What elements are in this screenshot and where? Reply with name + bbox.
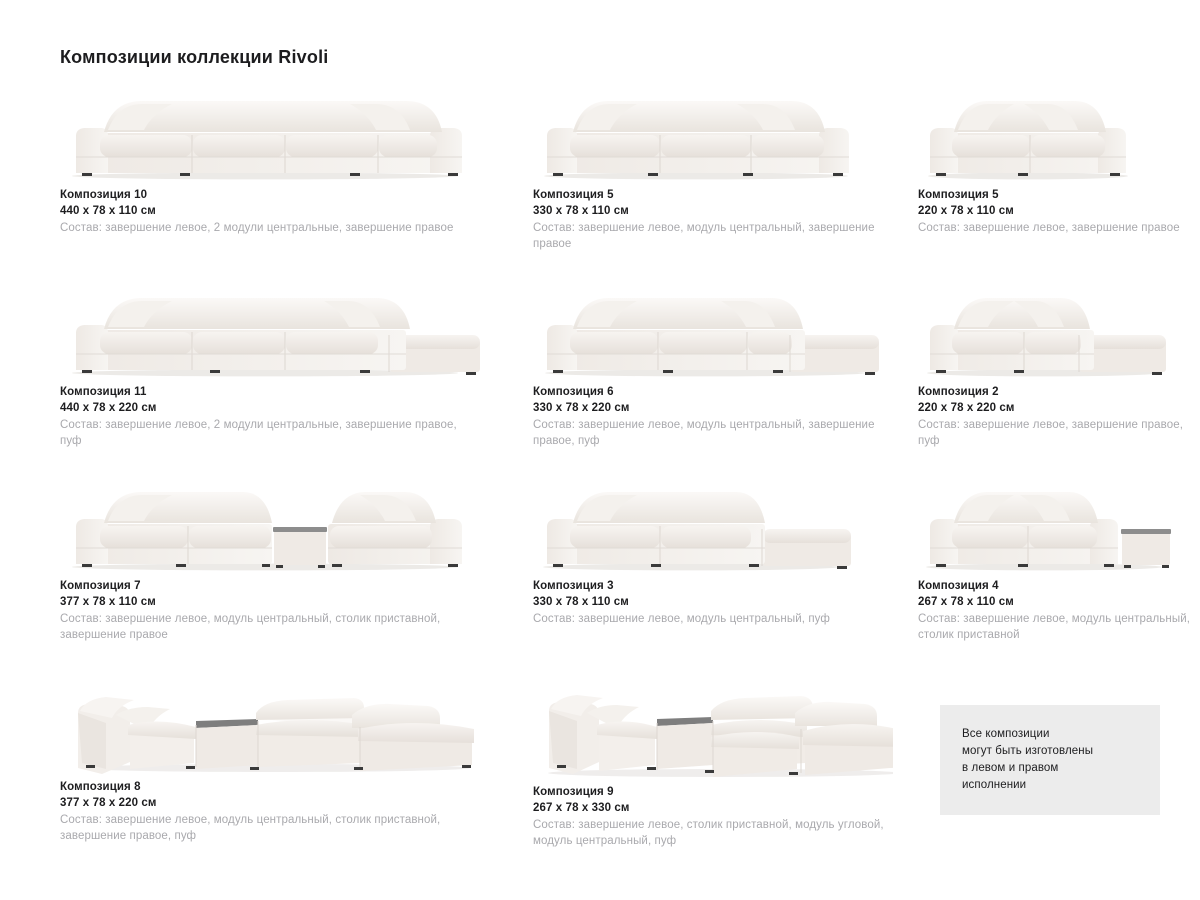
composition-description: Состав: завершение левое, 2 модули центр… [60, 220, 480, 236]
composition-description: Состав: завершение левое, модуль централ… [60, 611, 480, 643]
composition-row: Композиция 11 440 x 78 x 220 см Состав: … [0, 285, 1200, 479]
caption: Композиция 9 267 x 78 x 330 см Состав: з… [533, 784, 893, 849]
composition-name: Композиция 2 [918, 384, 1200, 400]
composition-dimensions: 440 x 78 x 220 см [60, 400, 480, 416]
composition-row: Композиция 7 377 x 78 x 110 см Состав: з… [0, 479, 1200, 675]
sofa-illustration-composition-3 [533, 479, 893, 574]
composition-name: Композиция 6 [533, 384, 893, 400]
composition-row: Композиция 10 440 x 78 x 110 см Состав: … [0, 88, 1200, 285]
sofa-illustration-composition-4 [918, 479, 1200, 574]
composition-description: Состав: завершение левое, 2 модули центр… [60, 417, 480, 449]
composition-name: Композиция 10 [60, 187, 480, 203]
composition-card-composition-4[interactable]: Композиция 4 267 x 78 x 110 см Состав: з… [918, 479, 1200, 643]
caption: Композиция 3 330 x 78 x 110 см Состав: з… [533, 578, 893, 627]
composition-card-composition-5-220[interactable]: Композиция 5 220 x 78 x 110 см Состав: з… [918, 88, 1200, 236]
sofa-illustration-composition-5-220 [918, 88, 1200, 183]
composition-description: Состав: завершение левое, завершение пра… [918, 417, 1200, 449]
sofa-illustration-composition-11 [60, 285, 480, 380]
composition-dimensions: 220 x 78 x 220 см [918, 400, 1200, 416]
composition-name: Композиция 5 [533, 187, 893, 203]
sofa-illustration-composition-5-330 [533, 88, 893, 183]
composition-dimensions: 330 x 78 x 110 см [533, 203, 893, 219]
catalog-page: Композиции коллекции Rivoli [0, 0, 1200, 900]
composition-dimensions: 377 x 78 x 220 см [60, 795, 480, 811]
composition-description: Состав: завершение левое, модуль централ… [533, 417, 893, 449]
sofa-illustration-composition-2 [918, 285, 1200, 380]
composition-name: Композиция 8 [60, 779, 480, 795]
composition-name: Композиция 7 [60, 578, 480, 594]
composition-card-composition-10[interactable]: Композиция 10 440 x 78 x 110 см Состав: … [60, 88, 480, 236]
composition-description: Состав: завершение левое, модуль централ… [533, 220, 893, 252]
side-table-top [1121, 529, 1171, 534]
composition-dimensions: 377 x 78 x 110 см [60, 594, 480, 610]
caption: Композиция 4 267 x 78 x 110 см Состав: з… [918, 578, 1200, 643]
info-box: Все композиции могут быть изготовлены в … [940, 705, 1160, 815]
composition-card-composition-2[interactable]: Композиция 2 220 x 78 x 220 см Состав: з… [918, 285, 1200, 449]
sofa-illustration-composition-9 [533, 675, 893, 780]
composition-dimensions: 330 x 78 x 220 см [533, 400, 893, 416]
composition-description: Состав: завершение левое, завершение пра… [918, 220, 1200, 236]
info-box-text: Все композиции могут быть изготовлены в … [940, 726, 1093, 794]
composition-card-composition-9[interactable]: Композиция 9 267 x 78 x 330 см Состав: з… [533, 675, 893, 849]
composition-description: Состав: завершение левое, модуль централ… [533, 611, 893, 627]
composition-dimensions: 267 x 78 x 330 см [533, 800, 893, 816]
composition-name: Композиция 4 [918, 578, 1200, 594]
composition-name: Композиция 9 [533, 784, 893, 800]
composition-dimensions: 220 x 78 x 110 см [918, 203, 1200, 219]
sofa-illustration-composition-6 [533, 285, 893, 380]
composition-card-composition-7[interactable]: Композиция 7 377 x 78 x 110 см Состав: з… [60, 479, 480, 643]
composition-card-composition-3[interactable]: Композиция 3 330 x 78 x 110 см Состав: з… [533, 479, 893, 627]
caption: Композиция 5 330 x 78 x 110 см Состав: з… [533, 187, 893, 252]
page-title: Композиции коллекции Rivoli [60, 47, 328, 68]
caption: Композиция 7 377 x 78 x 110 см Состав: з… [60, 578, 480, 643]
sofa-illustration-composition-10 [60, 88, 480, 183]
composition-card-composition-8[interactable]: Композиция 8 377 x 78 x 220 см Состав: з… [60, 675, 480, 844]
composition-name: Композиция 5 [918, 187, 1200, 203]
side-table-top [273, 527, 327, 532]
composition-card-composition-11[interactable]: Композиция 11 440 x 78 x 220 см Состав: … [60, 285, 480, 449]
composition-dimensions: 330 x 78 x 110 см [533, 594, 893, 610]
composition-card-composition-6[interactable]: Композиция 6 330 x 78 x 220 см Состав: з… [533, 285, 893, 449]
caption: Композиция 6 330 x 78 x 220 см Состав: з… [533, 384, 893, 449]
caption: Композиция 11 440 x 78 x 220 см Состав: … [60, 384, 480, 449]
caption: Композиция 10 440 x 78 x 110 см Состав: … [60, 187, 480, 236]
composition-description: Состав: завершение левое, столик пристав… [533, 817, 893, 849]
sofa-illustration-composition-7 [60, 479, 480, 574]
composition-name: Композиция 11 [60, 384, 480, 400]
composition-name: Композиция 3 [533, 578, 893, 594]
caption: Композиция 5 220 x 78 x 110 см Состав: з… [918, 187, 1200, 236]
sofa-illustration-composition-8 [60, 675, 480, 775]
caption: Композиция 8 377 x 78 x 220 см Состав: з… [60, 779, 480, 844]
composition-card-composition-5-330[interactable]: Композиция 5 330 x 78 x 110 см Состав: з… [533, 88, 893, 252]
caption: Композиция 2 220 x 78 x 220 см Состав: з… [918, 384, 1200, 449]
composition-dimensions: 440 x 78 x 110 см [60, 203, 480, 219]
composition-dimensions: 267 x 78 x 110 см [918, 594, 1200, 610]
composition-description: Состав: завершение левое, модуль централ… [918, 611, 1200, 643]
composition-description: Состав: завершение левое, модуль централ… [60, 812, 480, 844]
